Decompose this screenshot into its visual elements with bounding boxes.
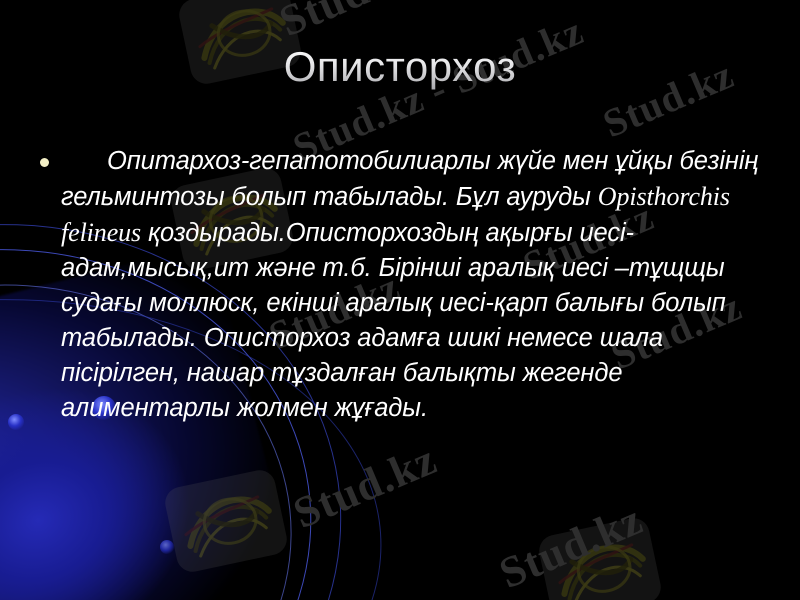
stud-kz-text-watermark: Stud.kz [286, 433, 444, 539]
body-paragraph: Опитархоз-гепатотобилиарлы жүйе мен ұйқы… [61, 144, 770, 426]
decorative-glow-dot [8, 414, 24, 430]
bullet-list-item: Опитархоз-гепатотобилиарлы жүйе мен ұйқы… [40, 144, 770, 426]
stud-kz-text-watermark: Stud.kz [272, 0, 430, 47]
page-title: Описторхоз [0, 44, 800, 90]
body-text-part-2: қоздырады.Описторхоздың ақырғы иесі-адам… [61, 219, 726, 422]
bullet-point-icon [40, 158, 49, 167]
presentation-slide: Stud.kzStud.kz - Stud.kzStud.kzStud.kzSt… [0, 0, 800, 600]
stud-logo-watermark [158, 463, 295, 580]
